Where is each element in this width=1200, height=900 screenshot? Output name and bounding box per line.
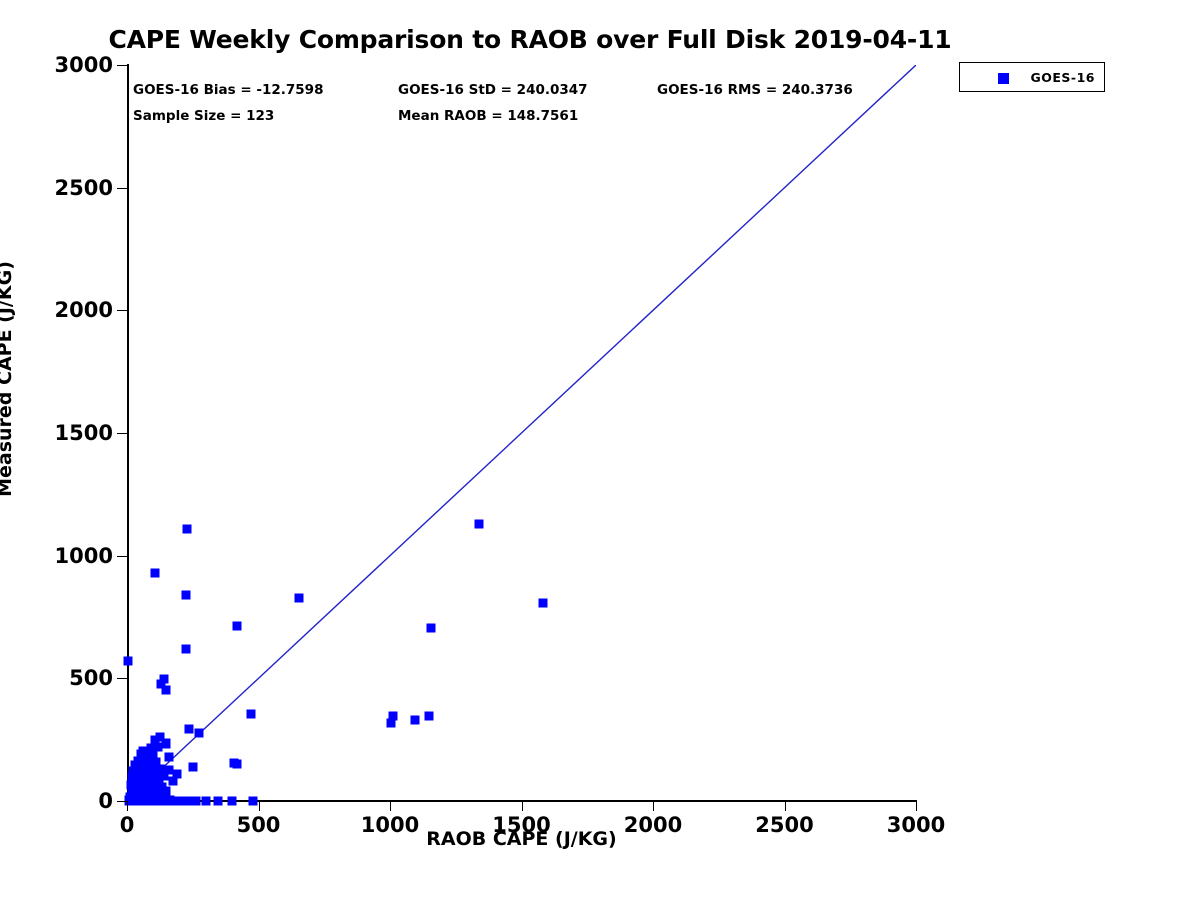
scatter-point [233, 621, 242, 630]
scatter-point [233, 760, 242, 769]
y-tick-label: 0 [98, 789, 113, 813]
scatter-point [191, 796, 200, 805]
x-axis-label: RAOB CAPE (J/KG) [127, 828, 916, 850]
scatter-point [164, 753, 173, 762]
y-tick [117, 188, 127, 189]
y-tick [117, 678, 127, 679]
legend-marker-goes-16 [998, 73, 1009, 84]
scatter-point [150, 569, 159, 578]
y-tick [117, 65, 127, 66]
scatter-point [425, 712, 434, 721]
y-tick-label: 3000 [55, 53, 113, 77]
scatter-point [387, 718, 396, 727]
scatter-point [182, 796, 191, 805]
scatter-point [475, 519, 484, 528]
scatter-point [169, 776, 178, 785]
y-tick-label: 500 [69, 666, 113, 690]
x-tick [127, 801, 128, 811]
y-tick-label: 1000 [55, 544, 113, 568]
scatter-point [188, 763, 197, 772]
x-tick [259, 801, 260, 811]
stat-std: GOES-16 StD = 240.0347 [398, 82, 588, 98]
stat-sample: Sample Size = 123 [133, 108, 274, 124]
stat-mean: Mean RAOB = 148.7561 [398, 108, 578, 124]
y-tick-label: 2500 [55, 176, 113, 200]
y-tick [117, 433, 127, 434]
scatter-point [213, 796, 222, 805]
scatter-point [228, 796, 237, 805]
scatter-point [410, 716, 419, 725]
scatter-point [195, 728, 204, 737]
chart-legend: GOES-16 [959, 62, 1105, 92]
scatter-point [184, 725, 193, 734]
y-tick [117, 310, 127, 311]
y-tick-label: 2000 [55, 298, 113, 322]
x-tick [785, 801, 786, 811]
legend-label-goes-16: GOES-16 [1030, 70, 1095, 85]
scatter-point [538, 598, 547, 607]
chart-title: CAPE Weekly Comparison to RAOB over Full… [0, 25, 1060, 54]
scatter-point [426, 624, 435, 633]
scatter-point [182, 644, 191, 653]
y-axis-label: Measured CAPE (J/KG) [0, 29, 16, 729]
y-tick [117, 801, 127, 802]
scatter-points-layer [127, 65, 916, 801]
scatter-point [183, 524, 192, 533]
scatter-point [162, 686, 171, 695]
x-tick [916, 801, 917, 811]
x-tick [522, 801, 523, 811]
stat-rms: GOES-16 RMS = 240.3736 [657, 82, 853, 98]
stat-bias: GOES-16 Bias = -12.7598 [133, 82, 323, 98]
scatter-point [162, 740, 171, 749]
y-tick-label: 1500 [55, 421, 113, 445]
chart-figure: CAPE Weekly Comparison to RAOB over Full… [0, 0, 1200, 900]
scatter-point [124, 657, 133, 666]
x-tick [390, 801, 391, 811]
scatter-point [248, 796, 257, 805]
x-tick [653, 801, 654, 811]
scatter-point [182, 591, 191, 600]
y-tick [117, 556, 127, 557]
scatter-point [201, 796, 210, 805]
scatter-point [246, 709, 255, 718]
plot-area: 050010001500200025003000 050010001500200… [127, 65, 916, 801]
scatter-point [295, 593, 304, 602]
